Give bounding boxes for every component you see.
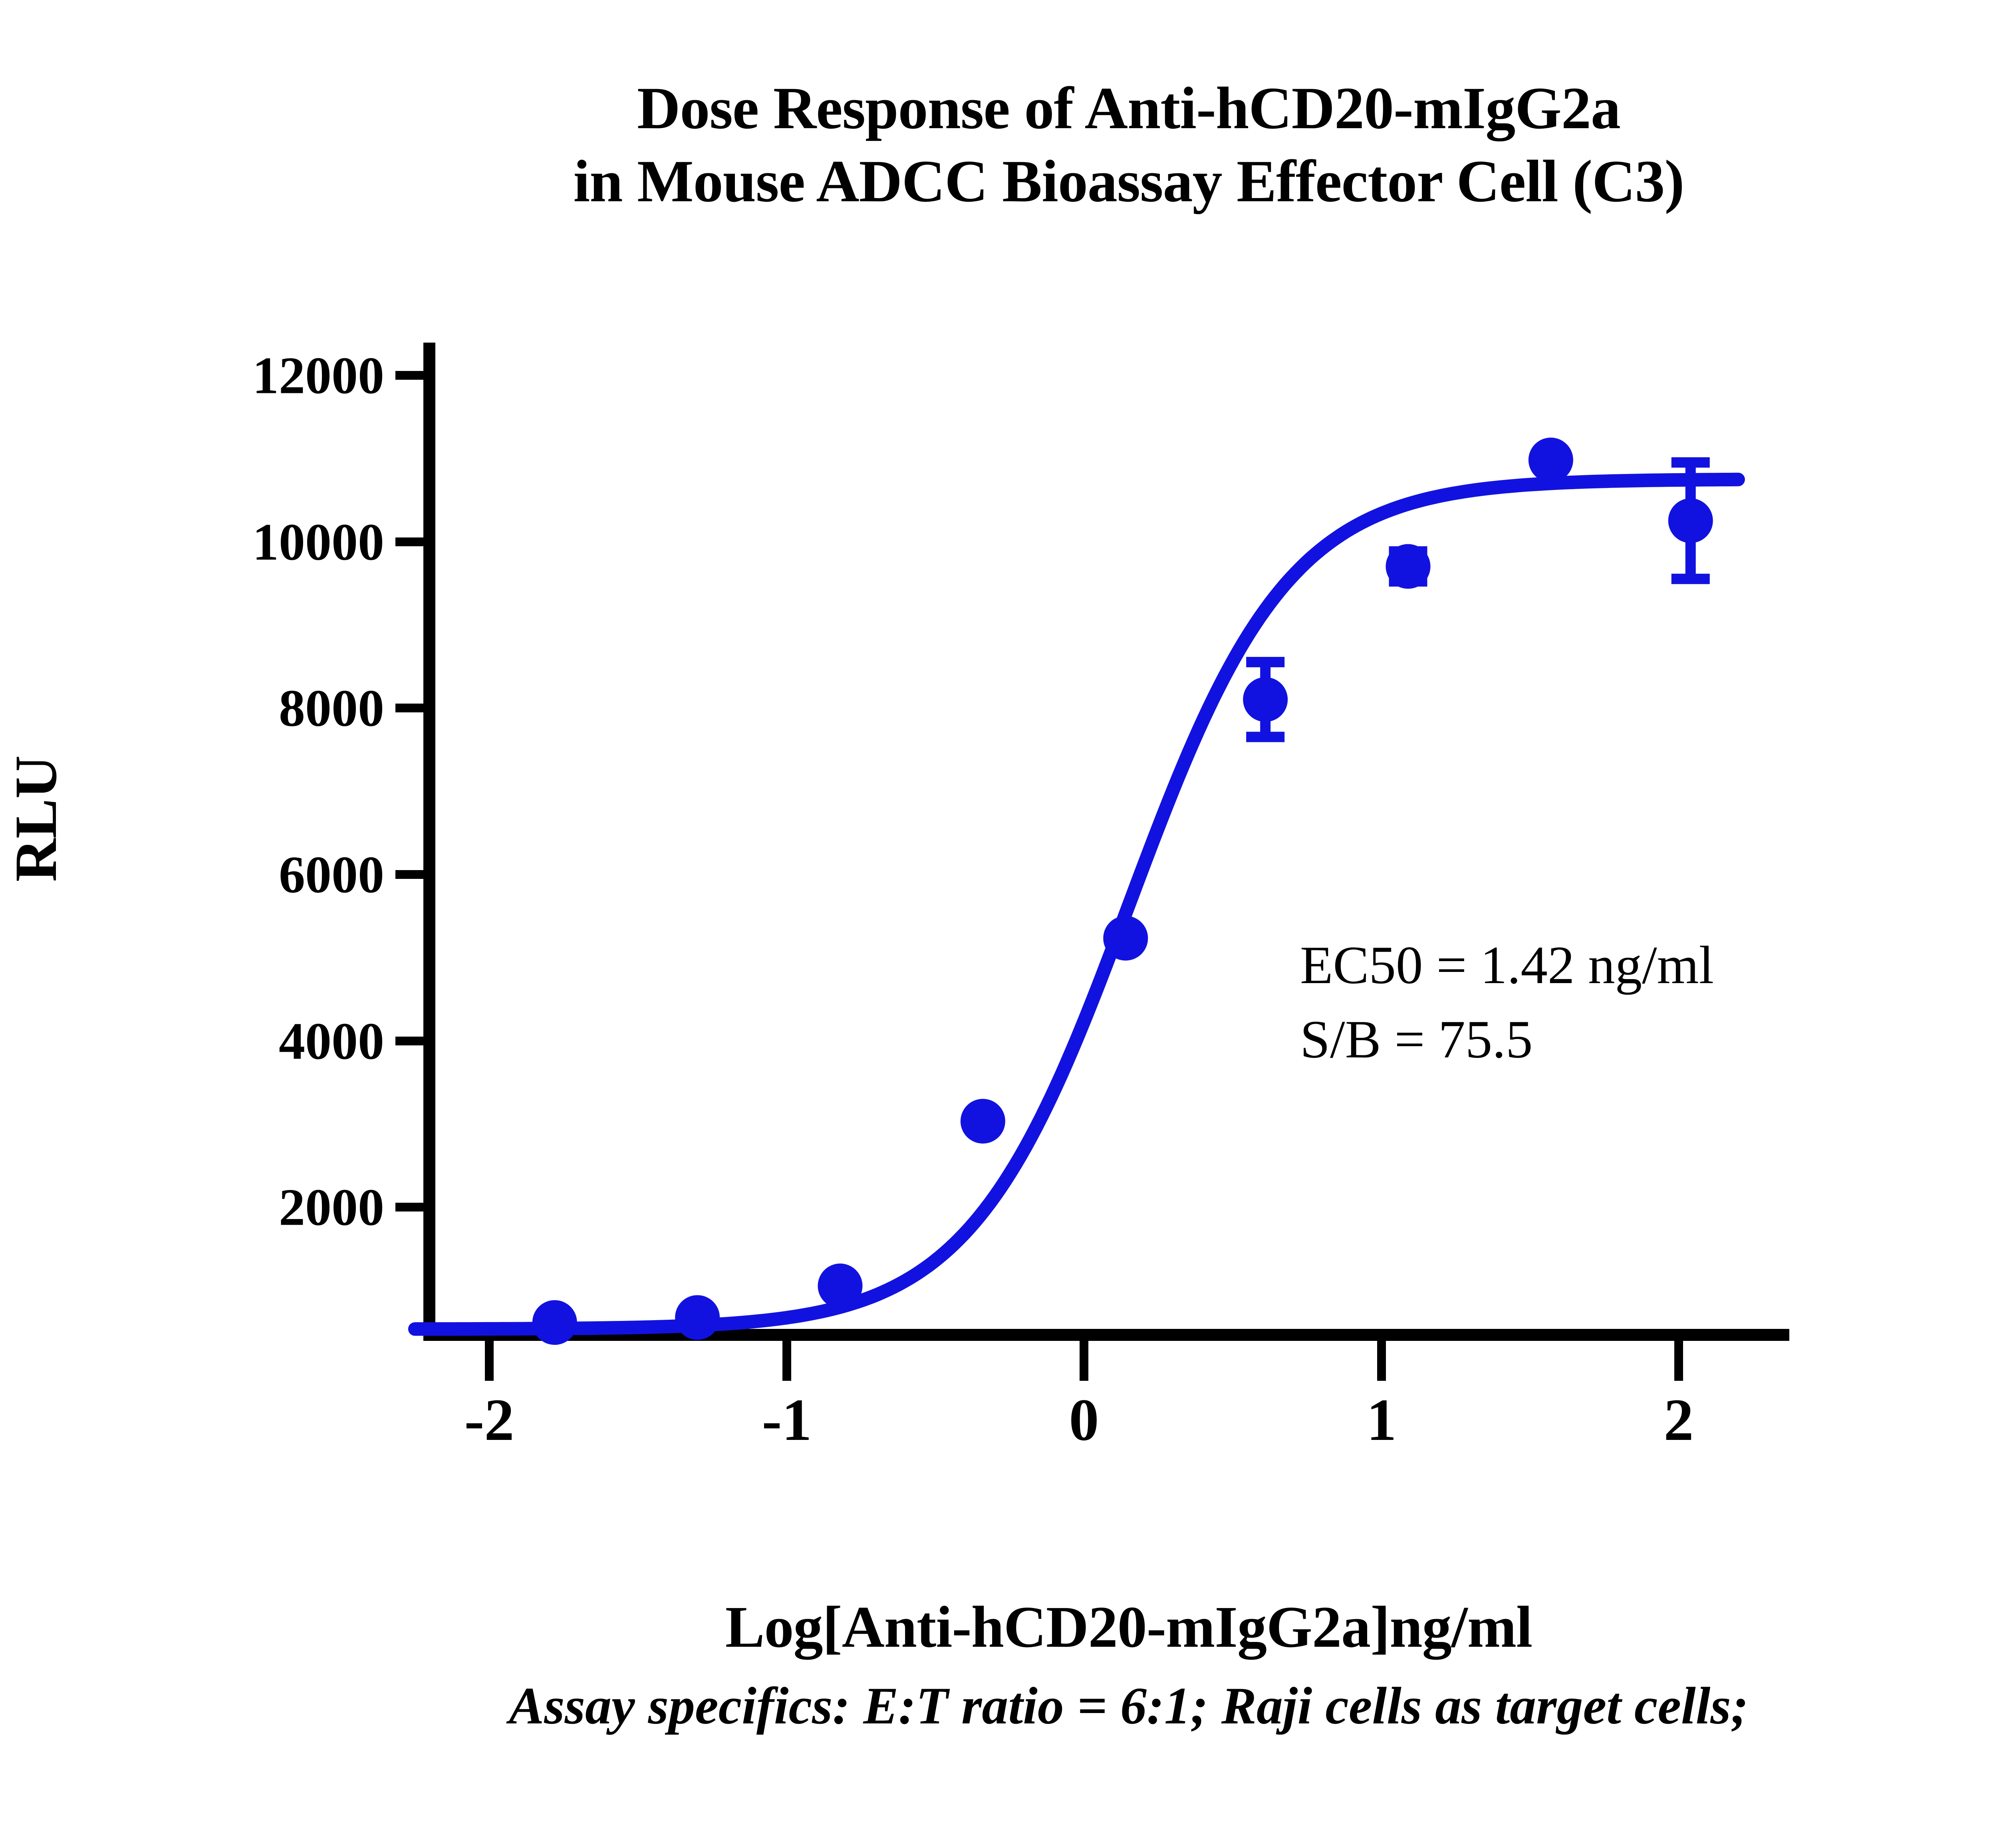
y-tick-label-12000: 12000 bbox=[0, 345, 391, 406]
error-bar-cap-lower bbox=[1246, 732, 1284, 742]
y-axis-title: RLU bbox=[2, 755, 70, 882]
y-tick-label-10000: 10000 bbox=[0, 512, 391, 573]
y-tick-label-4000: 4000 bbox=[0, 1011, 391, 1072]
fit-curve-path bbox=[415, 480, 1738, 1329]
data-point-marker bbox=[1243, 677, 1288, 722]
error-bar-cap-lower bbox=[1389, 576, 1427, 587]
y-tick-mark-2000 bbox=[395, 1203, 423, 1212]
y-tick-mark-4000 bbox=[395, 1037, 423, 1045]
x-tick-label-1: 1 bbox=[1367, 1386, 1397, 1454]
error-bar-cap-lower bbox=[1671, 574, 1710, 584]
x-tick-mark-neg2 bbox=[485, 1341, 494, 1381]
x-tick-mark-2 bbox=[1674, 1341, 1683, 1381]
y-tick-label-2000: 2000 bbox=[0, 1177, 391, 1238]
x-tick-label-0: 0 bbox=[1069, 1386, 1099, 1454]
error-bar-cap-upper bbox=[1389, 546, 1427, 557]
x-axis-spine bbox=[423, 1329, 1789, 1341]
y-tick-mark-12000 bbox=[395, 371, 423, 380]
data-point-marker bbox=[818, 1263, 863, 1308]
error-bars bbox=[1246, 457, 1710, 742]
fit-statistics: EC50 = 1.42 ng/ml S/B = 75.5 bbox=[1300, 928, 1714, 1077]
error-bar-line bbox=[1260, 662, 1270, 737]
x-tick-label-neg2: -2 bbox=[465, 1386, 514, 1454]
y-tick-mark-10000 bbox=[395, 537, 423, 546]
y-axis-spine bbox=[423, 343, 435, 1341]
y-tick-mark-6000 bbox=[395, 870, 423, 879]
y-tick-mark-8000 bbox=[395, 704, 423, 712]
error-bar-line bbox=[1685, 462, 1696, 579]
chart-figure: Dose Response of Anti-hCD20-mIgG2a in Mo… bbox=[0, 0, 1997, 1848]
data-point-marker bbox=[1386, 544, 1431, 589]
fit-curve bbox=[415, 480, 1738, 1329]
x-tick-mark-0 bbox=[1080, 1341, 1088, 1381]
error-bar-cap-upper bbox=[1246, 657, 1284, 667]
error-bar-line bbox=[1403, 551, 1413, 581]
x-tick-mark-neg1 bbox=[782, 1341, 791, 1381]
figure-caption: Assay specifics: E:T ratio = 6:1; Raji c… bbox=[0, 1675, 1997, 1736]
x-tick-mark-1 bbox=[1377, 1341, 1386, 1381]
error-bar-cap-upper bbox=[1671, 457, 1710, 468]
chart-title-line-2: in Mouse ADCC Bioassay Effector Cell (C3… bbox=[0, 145, 1997, 218]
chart-title-line-1: Dose Response of Anti-hCD20-mIgG2a bbox=[637, 75, 1620, 141]
sb-annotation: S/B = 75.5 bbox=[1300, 1003, 1714, 1077]
data-series-layer bbox=[0, 0, 1997, 1848]
ec50-annotation: EC50 = 1.42 ng/ml bbox=[1300, 928, 1714, 1003]
x-tick-label-2: 2 bbox=[1664, 1386, 1694, 1454]
data-point-markers bbox=[532, 438, 1713, 1345]
data-point-marker bbox=[1103, 916, 1148, 961]
data-point-marker bbox=[1668, 498, 1713, 543]
data-point-marker bbox=[961, 1099, 1005, 1144]
x-tick-label-neg1: -1 bbox=[762, 1386, 812, 1454]
y-tick-label-8000: 8000 bbox=[0, 678, 391, 739]
x-axis-title: Log[Anti-hCD20-mIgG2a]ng/ml bbox=[0, 1593, 1997, 1661]
chart-title: Dose Response of Anti-hCD20-mIgG2a in Mo… bbox=[0, 72, 1997, 218]
data-point-marker bbox=[1529, 438, 1573, 482]
